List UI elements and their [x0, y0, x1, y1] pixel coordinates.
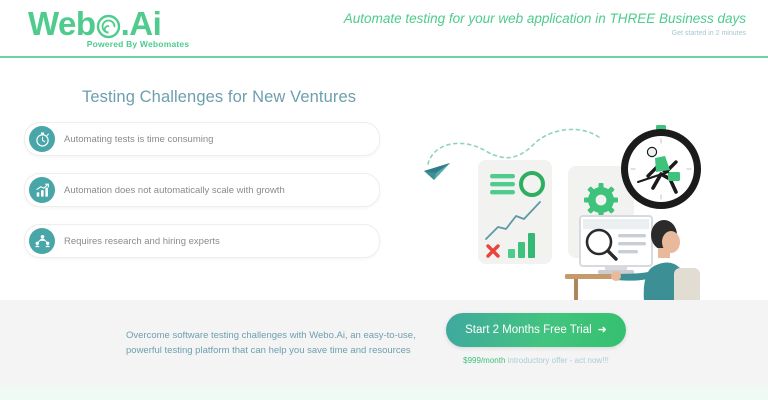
start-free-trial-button[interactable]: Start 2 Months Free Trial ➜: [446, 313, 626, 347]
challenge-item-scale[interactable]: Automation does not automatically scale …: [24, 173, 380, 207]
bar-chart-growth-icon: [29, 177, 55, 203]
monitor-magnifier-icon: [580, 216, 652, 274]
landing-page: Web .Ai Powered By Webomates Automate te…: [0, 0, 768, 400]
page-title: Testing Challenges for New Ventures: [82, 88, 356, 107]
challenge-label: Automation does not automatically scale …: [25, 185, 285, 196]
arrow-right-icon: ➜: [598, 325, 607, 336]
stopwatch-runner-icon: [621, 125, 701, 209]
challenge-item-time[interactable]: Automating tests is time consuming: [24, 122, 380, 156]
header-subtagline: Get started in 2 minutes: [672, 30, 746, 37]
report-card-icon: [478, 160, 552, 264]
logo-wordmark: Web .Ai: [28, 6, 218, 42]
logo-text-after: .Ai: [121, 6, 162, 42]
cta-label: Start 2 Months Free Trial: [465, 324, 592, 336]
header-tagline: Automate testing for your web applicatio…: [344, 11, 746, 26]
logo-text-before: Web: [28, 6, 96, 42]
paper-plane-icon: [424, 163, 450, 180]
page-footer: Overcome software testing challenges wit…: [0, 300, 768, 385]
challenge-item-hiring[interactable]: Requires research and hiring experts: [24, 224, 380, 258]
brand-logo[interactable]: Web .Ai Powered By Webomates: [28, 6, 218, 49]
page-header: Web .Ai Powered By Webomates Automate te…: [0, 0, 768, 57]
footer-accent-strip: [0, 385, 768, 400]
menu-line: [490, 182, 515, 186]
price-amount: $999/month: [463, 356, 505, 365]
hand: [611, 271, 621, 281]
footer-description: Overcome software testing challenges wit…: [126, 328, 416, 358]
spiral-o-icon: [96, 14, 121, 39]
dotted-path: [428, 129, 600, 164]
price-offer-text: introductory offer - act now!!!: [505, 356, 608, 365]
menu-line: [490, 190, 515, 194]
pricing-note: $999/month introductory offer - act now!…: [446, 356, 626, 365]
menu-line: [490, 174, 515, 178]
bar-chart-icon: [508, 249, 515, 258]
challenges-list: Automating tests is time consuming Autom…: [24, 122, 380, 275]
main-content: Testing Challenges for New Ventures Auto…: [0, 58, 768, 300]
gear-icon: [584, 183, 618, 217]
stopwatch-icon: [29, 126, 55, 152]
people-network-icon: [29, 228, 55, 254]
neck: [658, 248, 670, 258]
